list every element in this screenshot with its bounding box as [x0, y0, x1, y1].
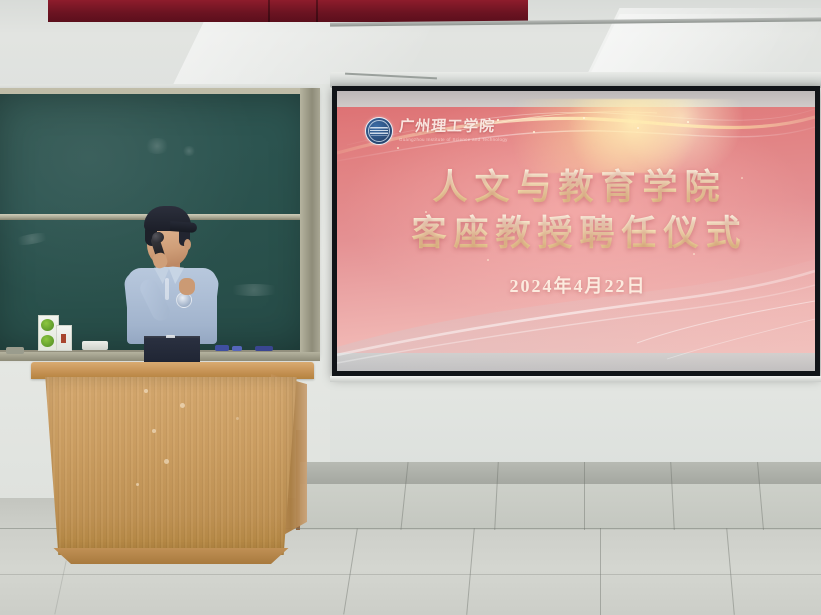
classroom-photo: 广州理工学院 Guangzhou Institute of Science an…: [0, 0, 821, 615]
projection-screen[interactable]: 广州理工学院 Guangzhou Institute of Science an…: [332, 86, 820, 376]
speaker-cap-brim: [170, 221, 198, 233]
sparkle-4: [583, 117, 585, 119]
podium-mark-1: [144, 389, 148, 393]
chalk-smudge-3: [11, 231, 52, 248]
carton-mark: [61, 334, 66, 343]
sparkle-6: [687, 121, 689, 123]
floor-tile-line-h2: [0, 574, 821, 575]
sparkle-5: [637, 127, 639, 129]
speaker-ear: [184, 239, 191, 250]
slide-title-line1: 人文与教育学院: [337, 165, 815, 211]
sparkle-7: [397, 147, 399, 149]
chalkboard-right-post: [300, 88, 320, 358]
chalk-smudge-4: [224, 284, 284, 296]
valance-seam-b: [316, 0, 318, 22]
institution-name-cn: 广州理工学院: [398, 120, 508, 136]
stage-step-top: [300, 484, 821, 530]
package-graphic-top: [41, 319, 54, 331]
desk-white-object[interactable]: [82, 341, 108, 350]
podium-mark-4: [164, 459, 169, 464]
podium[interactable]: [28, 362, 316, 570]
desk-carton[interactable]: [56, 325, 72, 351]
blue-board-item[interactable]: [255, 346, 273, 351]
screen-bottom-rail: [330, 376, 821, 382]
slide-letterbox-bottom: [337, 353, 815, 371]
podium-mark-5: [136, 483, 139, 486]
podium-mark-3: [152, 429, 156, 433]
projection-screen-surface: 广州理工学院 Guangzhou Institute of Science an…: [337, 91, 815, 371]
chalk-smudge-2: [182, 146, 196, 156]
speaker: [118, 206, 226, 368]
valance-seam-a: [268, 0, 270, 22]
package-graphic-bottom: [41, 335, 54, 347]
ceiling-valance-left: [48, 0, 528, 22]
institution-name-en: Guangzhou Institute of Science and Techn…: [399, 137, 508, 142]
stage-step-riser: [300, 462, 821, 486]
podium-base: [46, 548, 296, 564]
podium-front-panel: [40, 377, 302, 555]
speaker-polo-shirt: [127, 268, 217, 344]
podium-mark-6: [236, 417, 239, 420]
eraser-grey[interactable]: [6, 347, 24, 354]
speaker-shirt-placket: [165, 278, 169, 300]
slide-title-line2: 客座教授聘任仪式: [337, 211, 815, 257]
floor-tile-line-v8: [600, 528, 601, 615]
slide-logo: 广州理工学院 Guangzhou Institute of Science an…: [365, 117, 508, 145]
speaker-gesturing-hand: [179, 278, 195, 295]
floor-tile-line-v3: [584, 462, 585, 530]
slide-title-block: 人文与教育学院 客座教授聘任仪式 2024年4月22日: [337, 165, 815, 298]
chalk-smudge-1: [144, 138, 170, 154]
blue-eraser[interactable]: [232, 346, 242, 351]
podium-mark-2: [180, 403, 185, 408]
university-seal-icon: [365, 117, 393, 145]
slide-date: 2024年4月22日: [337, 272, 815, 298]
